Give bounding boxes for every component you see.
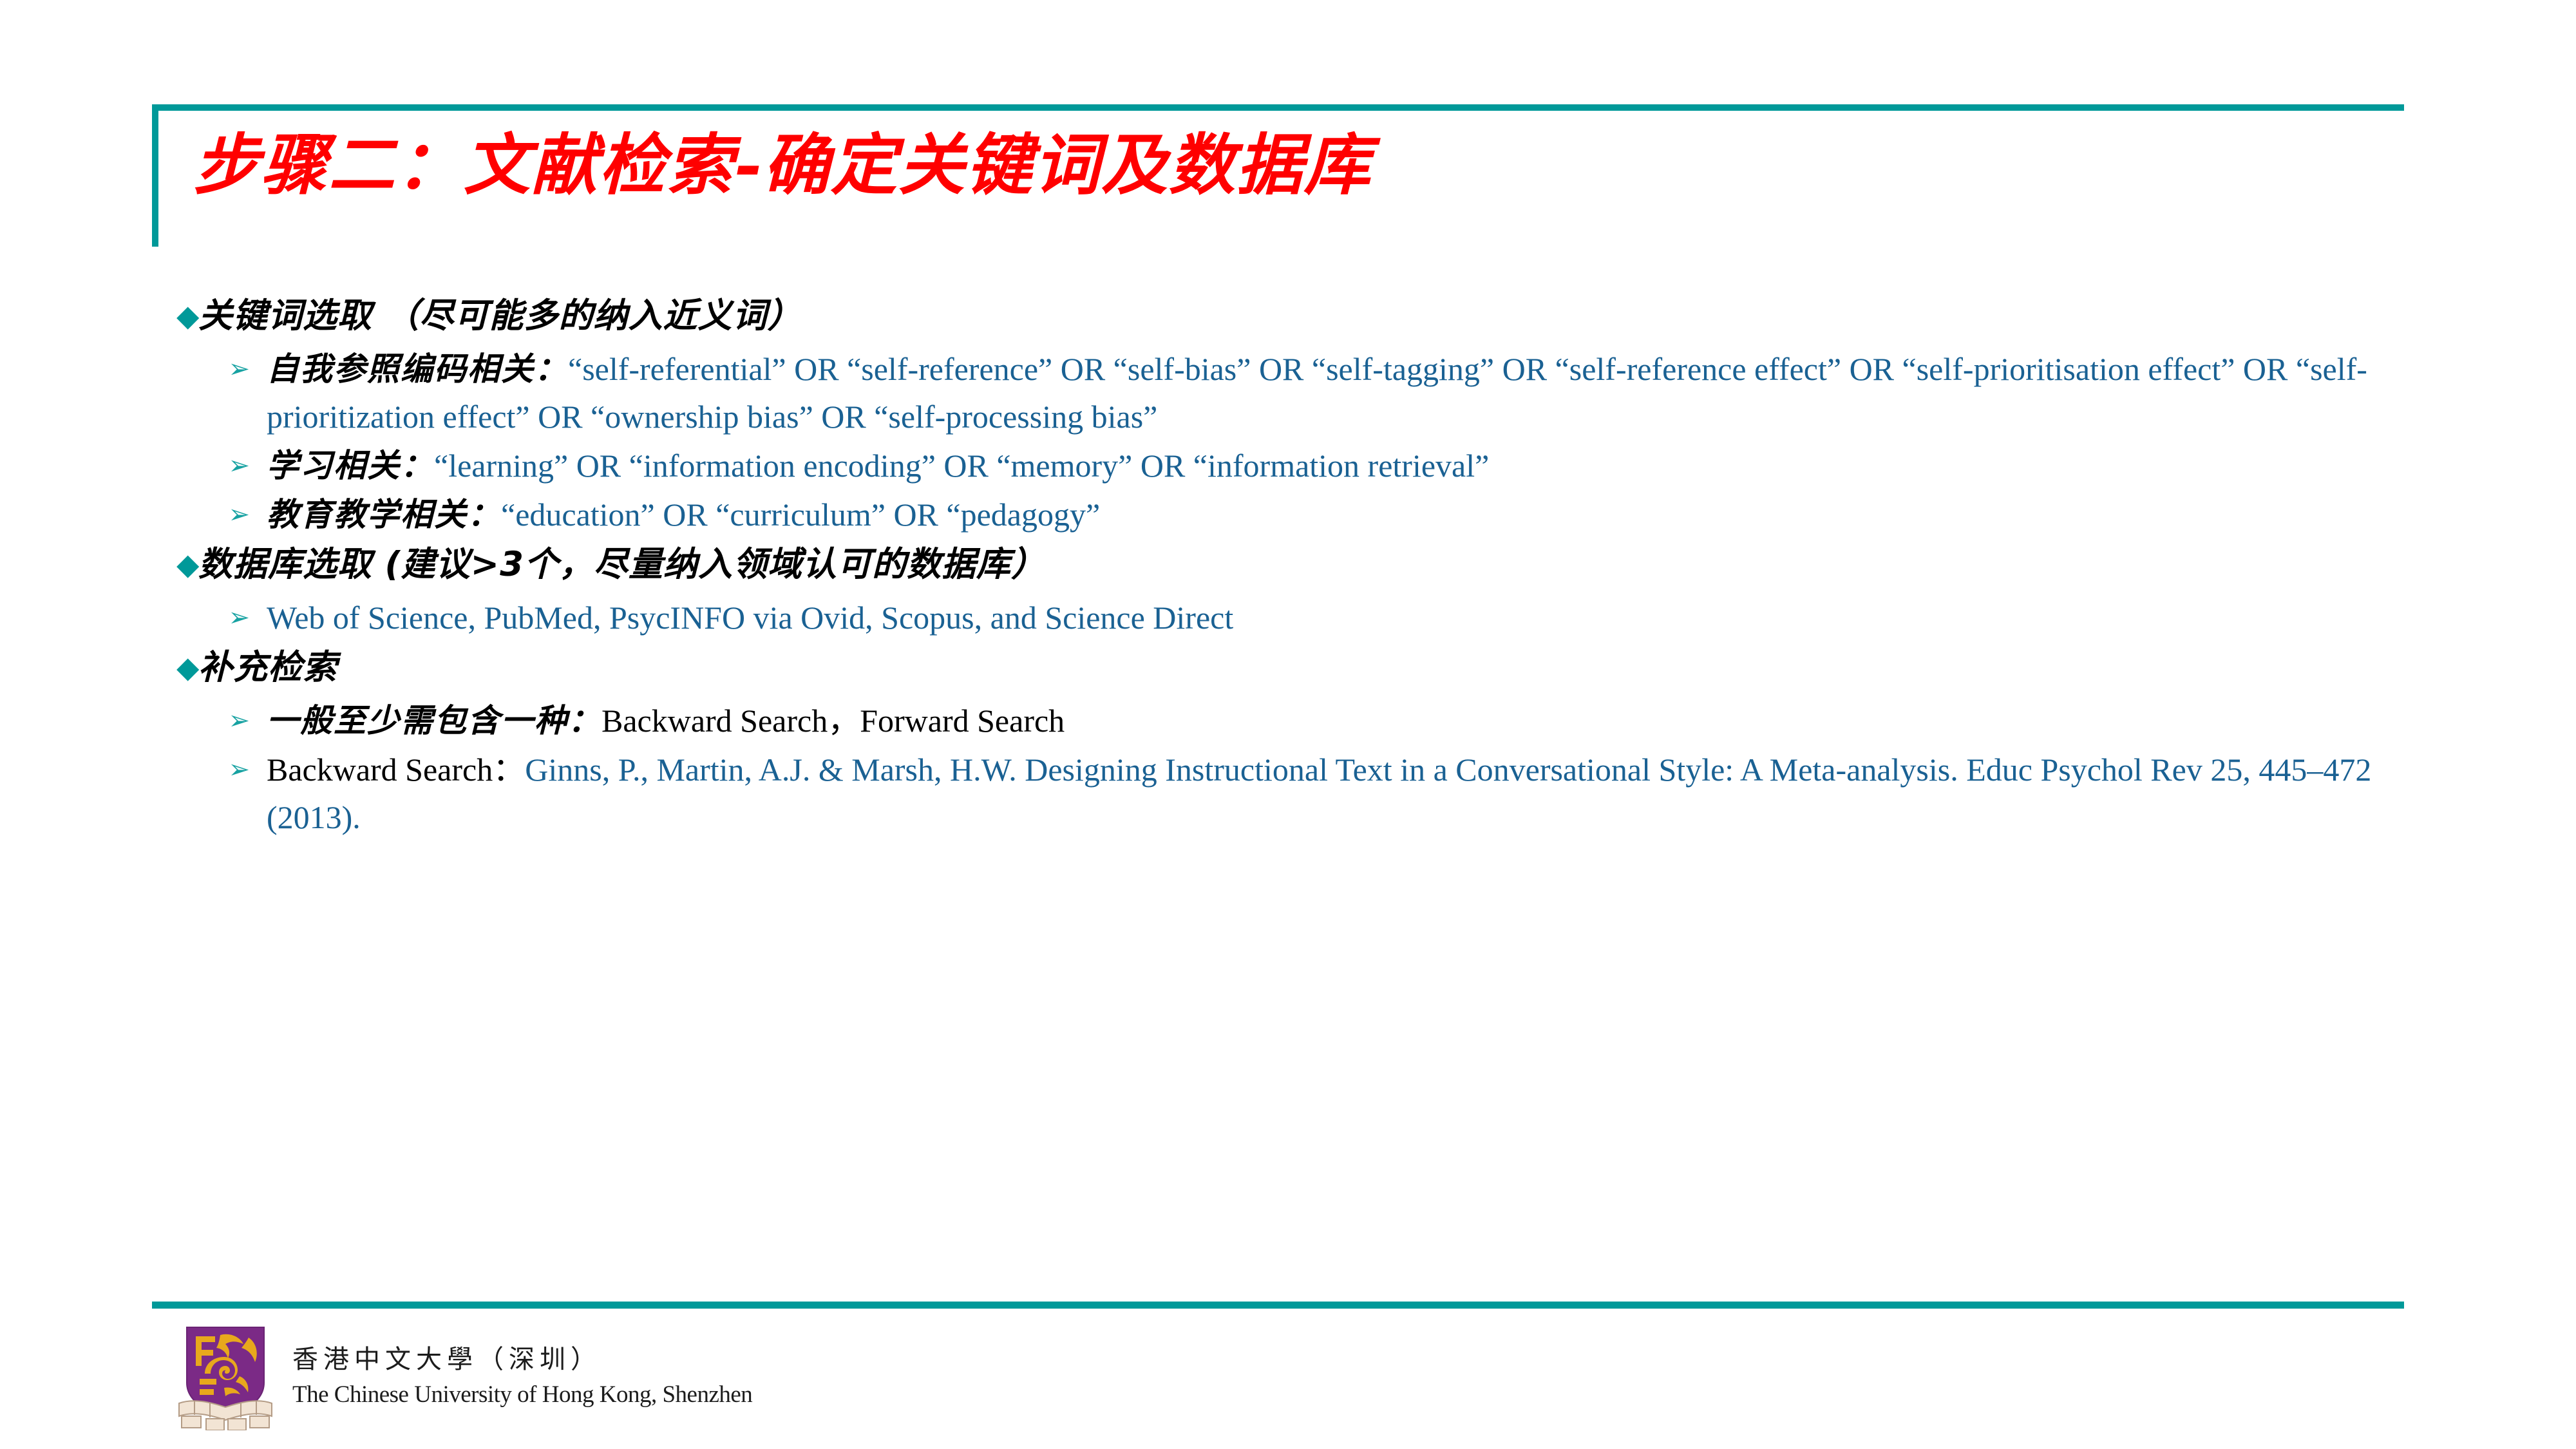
- outline-level1-label: 数据库选取 (建议>3个，尽量纳入领域认可的数据库）: [198, 540, 2419, 590]
- outline-level1-item: ◆ 关键词选取 （尽可能多的纳入近义词）: [152, 291, 2419, 341]
- outline-level2-item: ➢ 自我参照编码相关：“self-referential” OR “self-r…: [152, 345, 2419, 440]
- arrow-bullet-icon: ➢: [152, 345, 267, 393]
- diamond-bullet-icon: ◆: [152, 643, 198, 693]
- outline-level1-item: ◆ 补充检索: [152, 643, 2419, 693]
- keyword-query-learning: “learning” OR “information encoding” OR …: [434, 448, 1489, 484]
- slide-title: 步骤二：文献检索-确定关键词及数据库: [193, 126, 2383, 205]
- arrow-bullet-icon: ➢: [152, 697, 267, 744]
- outline-level2-content: Backward Search：Ginns, P., Martin, A.J. …: [267, 746, 2419, 841]
- outline-level1-label: 补充检索: [198, 643, 2419, 693]
- title-left-rule: [152, 104, 158, 247]
- keyword-group-label-self: 自我参照编码相关：: [267, 350, 568, 388]
- outline-level2-item: ➢ Web of Science, PubMed, PsycINFO via O…: [152, 594, 2419, 641]
- cuhk-shield-crest-icon: [178, 1323, 273, 1430]
- arrow-bullet-icon: ➢: [152, 442, 267, 489]
- footer-divider-rule: [152, 1302, 2404, 1309]
- title-top-rule: [152, 104, 2404, 111]
- supplementary-search-label: 一般至少需包含一种：: [267, 702, 601, 739]
- outline-level1-item: ◆ 数据库选取 (建议>3个，尽量纳入领域认可的数据库）: [152, 540, 2419, 590]
- keyword-group-label-learning: 学习相关：: [267, 447, 434, 484]
- outline-level2-content: 学习相关：“learning” OR “information encoding…: [267, 442, 2419, 489]
- diamond-bullet-icon: ◆: [152, 540, 198, 590]
- university-name-cn: 香港中文大學（深圳）: [292, 1343, 752, 1376]
- arrow-bullet-icon: ➢: [152, 746, 267, 793]
- outline-level2-item: ➢ 学习相关：“learning” OR “information encodi…: [152, 442, 2419, 489]
- slide-body: ◆ 关键词选取 （尽可能多的纳入近义词） ➢ 自我参照编码相关：“self-re…: [152, 291, 2419, 842]
- arrow-bullet-icon: ➢: [152, 491, 267, 538]
- diamond-bullet-icon: ◆: [152, 291, 198, 341]
- outline-level2-content: 自我参照编码相关：“self-referential” OR “self-ref…: [267, 345, 2419, 440]
- outline-level2-item: ➢ 教育教学相关：“education” OR “curriculum” OR …: [152, 491, 2419, 538]
- backward-search-citation: Ginns, P., Martin, A.J. & Marsh, H.W. De…: [267, 752, 2371, 835]
- database-list: Web of Science, PubMed, PsycINFO via Ovi…: [267, 600, 1233, 636]
- outline-level2-item: ➢ 一般至少需包含一种：Backward Search，Forward Sear…: [152, 697, 2419, 744]
- outline-level2-content: 一般至少需包含一种：Backward Search，Forward Search: [267, 697, 2419, 744]
- arrow-bullet-icon: ➢: [152, 594, 267, 641]
- backward-search-label: Backward Search：: [267, 752, 525, 788]
- supplementary-search-types: Backward Search，Forward Search: [601, 703, 1065, 739]
- outline-level2-content: 教育教学相关：“education” OR “curriculum” OR “p…: [267, 491, 2419, 538]
- keyword-query-self: “self-referential” OR “self-reference” O…: [267, 351, 2367, 435]
- cuhk-wordmark: 香港中文大學（深圳） The Chinese University of Hon…: [292, 1343, 752, 1410]
- outline-level2-content: Web of Science, PubMed, PsycINFO via Ovi…: [267, 594, 2419, 641]
- footer: 香港中文大學（深圳） The Chinese University of Hon…: [152, 1323, 752, 1430]
- keyword-group-label-education: 教育教学相关：: [267, 496, 501, 533]
- keyword-query-education: “education” OR “curriculum” OR “pedagogy…: [501, 497, 1100, 533]
- outline-level2-item: ➢ Backward Search：Ginns, P., Martin, A.J…: [152, 746, 2419, 841]
- university-name-en: The Chinese University of Hong Kong, She…: [292, 1379, 752, 1410]
- outline-level1-label: 关键词选取 （尽可能多的纳入近义词）: [198, 291, 2419, 341]
